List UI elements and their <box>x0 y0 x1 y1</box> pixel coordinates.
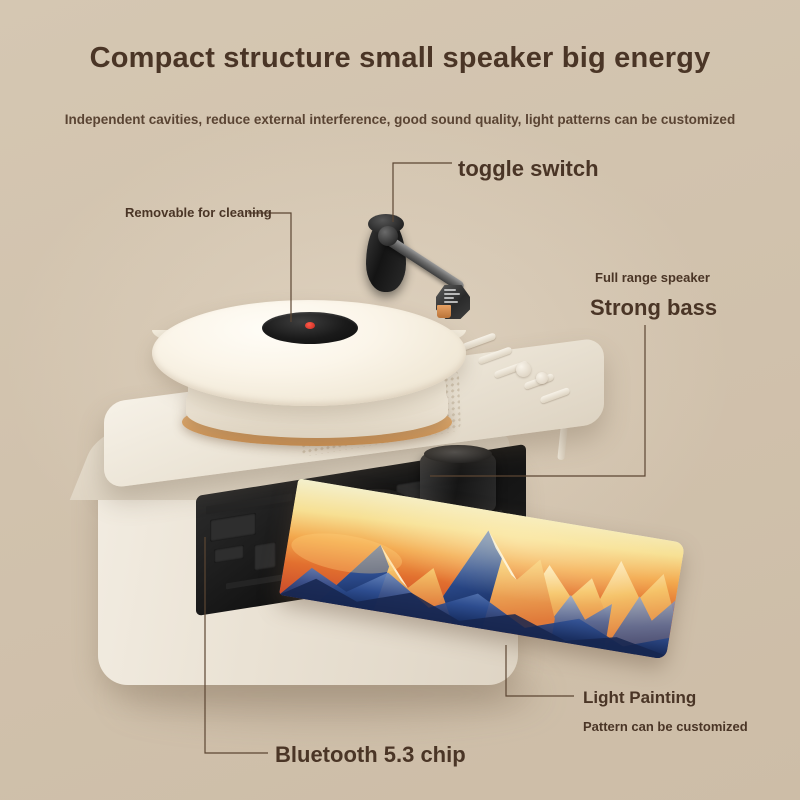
callout-light-painting: Light Painting <box>583 688 696 708</box>
leader-removable <box>248 213 291 322</box>
callout-toggle-switch: toggle switch <box>458 156 599 182</box>
callout-full-range-speaker: Full range speaker <box>595 270 710 285</box>
leader-strongbass <box>430 325 645 476</box>
infographic-canvas: Compact structure small speaker big ener… <box>0 0 800 800</box>
leader-bluetooth <box>205 537 268 753</box>
callout-strong-bass: Strong bass <box>590 295 717 321</box>
callout-pattern-customized: Pattern can be customized <box>583 719 748 734</box>
callout-removable: Removable for cleaning <box>125 205 272 220</box>
leader-lines <box>0 0 800 800</box>
callout-bluetooth-chip: Bluetooth 5.3 chip <box>275 742 466 768</box>
leader-toggle <box>393 163 452 222</box>
leader-lightpainting <box>506 645 574 696</box>
